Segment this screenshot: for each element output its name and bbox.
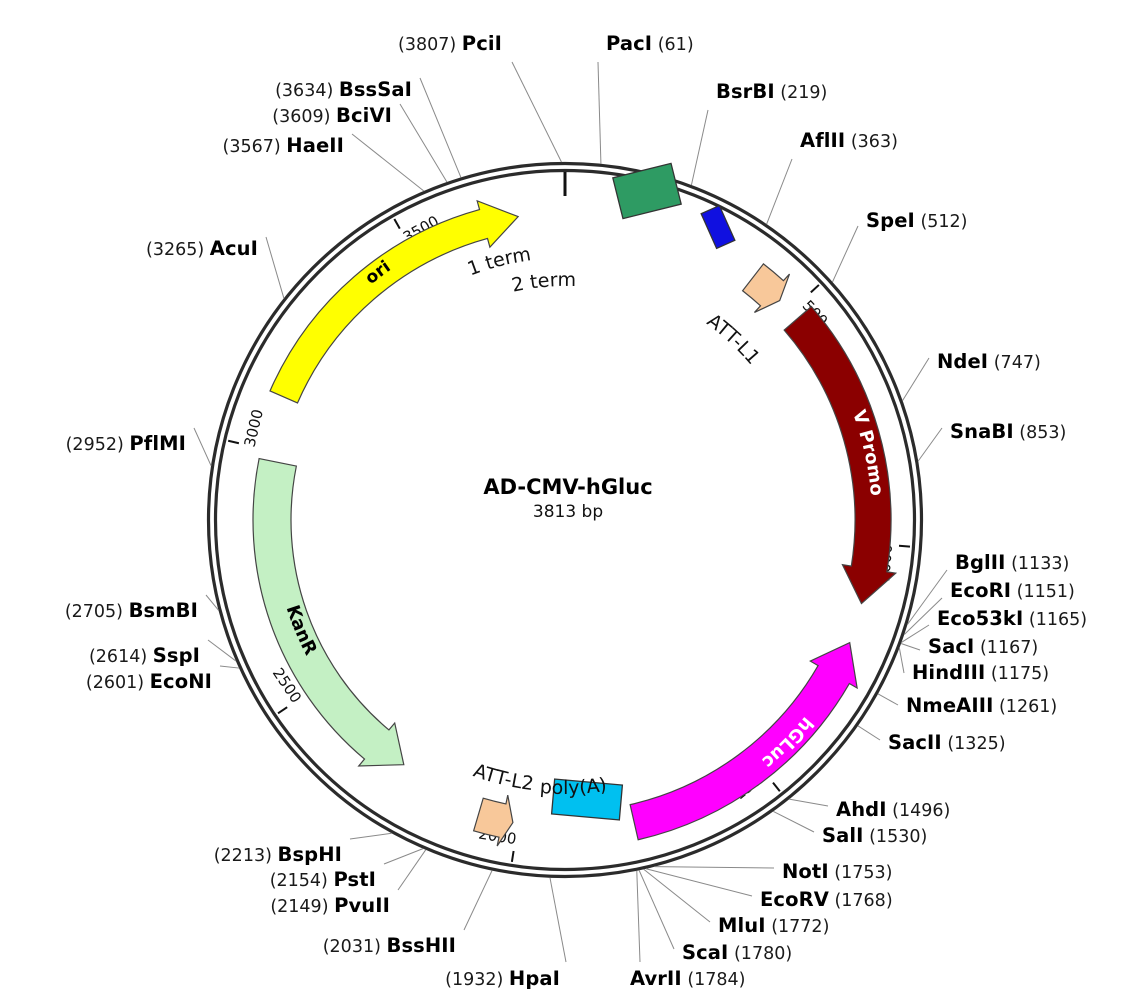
- enzyme-position: (219): [775, 83, 828, 103]
- feature-rect[interactable]: [613, 163, 681, 218]
- enzyme-name: SspI: [153, 644, 200, 667]
- ruler-tick-500: [811, 285, 819, 292]
- enzyme-name: BsmBI: [129, 599, 198, 622]
- enzyme-position: (853): [1014, 423, 1067, 443]
- leader-line-acui: [266, 237, 284, 298]
- leader-line-paci: [598, 62, 601, 164]
- enzyme-position: (2213): [214, 846, 278, 866]
- enzyme-label-bsssai[interactable]: (3634) BssSaI: [275, 80, 412, 101]
- leader-line-bsrbi: [691, 110, 708, 185]
- enzyme-name: PvuII: [334, 894, 390, 917]
- enzyme-label-eco53ki[interactable]: Eco53kI (1165): [937, 609, 1087, 630]
- enzyme-label-psti[interactable]: (2154) PstI: [270, 870, 376, 891]
- enzyme-name: HaeII: [286, 134, 344, 157]
- enzyme-position: (2952): [66, 435, 130, 455]
- enzyme-position: (1167): [974, 638, 1038, 658]
- enzyme-position: (61): [652, 35, 694, 55]
- enzyme-position: (2149): [270, 897, 334, 917]
- enzyme-label-nmeaiii[interactable]: NmeAIII (1261): [906, 696, 1057, 717]
- leader-line-nmeaiii: [878, 694, 898, 705]
- enzyme-position: (1784): [682, 970, 746, 990]
- leader-line-pflmi: [194, 428, 211, 466]
- enzyme-label-sali[interactable]: SalI (1530): [822, 826, 927, 847]
- ruler-tick-3500: [394, 219, 399, 229]
- enzyme-label-bsshii[interactable]: (2031) BssHII: [323, 936, 456, 957]
- feature-label-att-l2: ATT-L2: [471, 760, 535, 795]
- enzyme-label-spei[interactable]: SpeI (512): [866, 211, 968, 232]
- enzyme-name: SnaBI: [950, 420, 1014, 443]
- ruler-label: 3000: [241, 407, 267, 448]
- enzyme-position: (1165): [1023, 610, 1087, 630]
- enzyme-name: PflMI: [129, 432, 186, 455]
- enzyme-position: (2154): [270, 871, 334, 891]
- enzyme-position: (3609): [272, 107, 336, 127]
- enzyme-name: SalI: [822, 824, 864, 847]
- enzyme-name: MluI: [718, 914, 766, 937]
- feature-ATT-L1[interactable]: [743, 264, 790, 313]
- leader-line-hpai: [550, 878, 566, 962]
- enzyme-label-bsphi[interactable]: (2213) BspHI: [214, 845, 342, 866]
- enzyme-name: AvrII: [630, 967, 682, 990]
- ruler-tick-2500: [278, 707, 287, 713]
- enzyme-position: (2031): [323, 937, 387, 957]
- leader-line-ecorv: [646, 869, 752, 896]
- enzyme-name: PstI: [333, 868, 376, 891]
- enzyme-label-acui[interactable]: (3265) AcuI: [146, 239, 258, 260]
- ruler-tick-1000: [899, 546, 910, 547]
- enzyme-position: (2614): [89, 647, 153, 667]
- enzyme-label-scai[interactable]: ScaI (1780): [682, 943, 792, 964]
- enzyme-name: Eco53kI: [937, 607, 1023, 630]
- ruler-tick-3000: [228, 441, 239, 444]
- enzyme-name: NotI: [782, 860, 829, 883]
- leader-line-haeii: [352, 134, 424, 191]
- enzyme-name: BssHII: [386, 934, 456, 957]
- enzyme-name: PacI: [606, 32, 652, 55]
- leader-line-econi: [220, 666, 239, 668]
- feature-hGLuc[interactable]: [630, 643, 857, 840]
- leader-line-saci: [901, 644, 920, 650]
- enzyme-label-ndei[interactable]: NdeI (747): [937, 352, 1041, 373]
- ruler-tick-label-3000: 3000: [241, 407, 267, 448]
- enzyme-position: (1133): [1006, 554, 1070, 574]
- feature-ori[interactable]: [270, 201, 518, 403]
- enzyme-name: ScaI: [682, 941, 728, 964]
- leader-line-ndei: [903, 358, 929, 401]
- enzyme-name: AcuI: [210, 237, 258, 260]
- enzyme-name: AhdI: [836, 798, 887, 821]
- enzyme-position: (1932): [445, 970, 509, 990]
- leader-line-pcii: [512, 62, 561, 162]
- enzyme-position: (3634): [275, 81, 339, 101]
- enzyme-position: (1530): [864, 827, 928, 847]
- enzyme-label-pvuii[interactable]: (2149) PvuII: [270, 896, 390, 917]
- leader-line-snabi: [918, 428, 942, 461]
- enzyme-name: SacI: [928, 635, 974, 658]
- ruler-tick-2000: [512, 851, 514, 862]
- enzyme-label-snabi[interactable]: SnaBI (853): [950, 422, 1066, 443]
- leader-line-bsshii: [464, 870, 492, 930]
- enzyme-position: (512): [915, 212, 968, 232]
- enzyme-position: (1772): [766, 917, 830, 937]
- enzyme-label-pflmi[interactable]: (2952) PflMI: [66, 434, 186, 455]
- enzyme-position: (1753): [829, 863, 893, 883]
- enzyme-label-hpai[interactable]: (1932) HpaI: [445, 969, 560, 990]
- leader-line-scai: [639, 870, 674, 949]
- enzyme-label-ecorv[interactable]: EcoRV (1768): [760, 890, 893, 911]
- enzyme-label-econi[interactable]: (2601) EcoNI: [86, 672, 212, 693]
- enzyme-name: EcoRV: [760, 888, 829, 911]
- enzyme-position: (2601): [86, 673, 150, 693]
- enzyme-label-bsrbi[interactable]: BsrBI (219): [716, 82, 827, 103]
- enzyme-name: AflII: [800, 129, 845, 152]
- enzyme-name: NmeAIII: [906, 694, 993, 717]
- enzyme-label-noti[interactable]: NotI (1753): [782, 862, 892, 883]
- leader-line-hindiii: [899, 648, 904, 673]
- leader-line-sacii: [858, 726, 880, 740]
- leader-line-bcivi: [400, 104, 447, 182]
- enzyme-position: (3807): [398, 35, 462, 55]
- enzyme-label-ahdi[interactable]: AhdI (1496): [836, 800, 950, 821]
- enzyme-position: (2705): [65, 602, 129, 622]
- enzyme-label-bglii[interactable]: BglII (1133): [955, 553, 1069, 574]
- enzyme-position: (1768): [829, 891, 893, 911]
- leader-line-spei: [832, 226, 858, 282]
- enzyme-label-avrii[interactable]: AvrII (1784): [630, 969, 746, 990]
- enzyme-label-sspi[interactable]: (2614) SspI: [89, 646, 200, 667]
- feature-label-att-l1: ATT-L1: [703, 310, 764, 369]
- leader-line-aflii: [767, 159, 792, 224]
- enzyme-name: BssSaI: [339, 78, 412, 101]
- enzyme-position: (747): [988, 353, 1041, 373]
- enzyme-position: (3265): [146, 240, 210, 260]
- leader-line-avrii: [637, 871, 640, 962]
- leader-line-bsphi: [350, 833, 392, 839]
- enzyme-name: EcoNI: [150, 670, 212, 693]
- enzyme-label-paci[interactable]: PacI (61): [606, 34, 694, 55]
- enzyme-label-pcii[interactable]: (3807) PciI: [398, 34, 502, 55]
- enzyme-label-hindiii[interactable]: HindIII (1175): [912, 663, 1049, 684]
- enzyme-label-haeii[interactable]: (3567) HaeII: [223, 136, 344, 157]
- enzyme-label-bsmbi[interactable]: (2705) BsmBI: [65, 601, 198, 622]
- enzyme-name: SpeI: [866, 209, 915, 232]
- enzyme-name: SacII: [888, 731, 942, 754]
- enzyme-name: BglII: [955, 551, 1006, 574]
- plasmid-size: 3813 bp: [0, 502, 1136, 522]
- enzyme-position: (363): [845, 132, 898, 152]
- enzyme-label-saci[interactable]: SacI (1167): [928, 637, 1038, 658]
- enzyme-name: PciI: [462, 32, 502, 55]
- enzyme-name: BsrBI: [716, 80, 775, 103]
- enzyme-label-bcivi[interactable]: (3609) BciVI: [272, 106, 392, 127]
- enzyme-name: HindIII: [912, 661, 985, 684]
- enzyme-position: (1780): [728, 944, 792, 964]
- enzyme-name: NdeI: [937, 350, 988, 373]
- plasmid-map: 500100015002000250030003500oriCMV Promot…: [0, 0, 1136, 993]
- enzyme-position: (1175): [985, 664, 1049, 684]
- plasmid-name: AD-CMV-hGluc: [0, 475, 1136, 499]
- leader-line-pvuii: [398, 850, 426, 890]
- enzyme-position: (1151): [1011, 582, 1075, 602]
- leader-line-sali: [773, 811, 814, 832]
- enzyme-label-sacii[interactable]: SacII (1325): [888, 733, 1006, 754]
- enzyme-position: (3567): [223, 137, 287, 157]
- enzyme-name: EcoRI: [950, 579, 1011, 602]
- enzyme-name: BspHI: [277, 843, 342, 866]
- enzyme-position: (1325): [942, 734, 1006, 754]
- leader-line-noti: [655, 867, 774, 868]
- enzyme-label-ecori[interactable]: EcoRI (1151): [950, 581, 1075, 602]
- leader-line-ahdi: [789, 799, 828, 806]
- enzyme-name: HpaI: [509, 967, 560, 990]
- ruler-tick-1500: [773, 783, 780, 792]
- enzyme-name: BciVI: [336, 104, 392, 127]
- enzyme-position: (1496): [887, 801, 951, 821]
- feature-box-rrnB T1 terminator[interactable]: [613, 163, 681, 218]
- leader-line-bsssai: [420, 78, 461, 177]
- enzyme-position: (1261): [993, 697, 1057, 717]
- enzyme-label-aflii[interactable]: AflII (363): [800, 131, 898, 152]
- enzyme-label-mlui[interactable]: MluI (1772): [718, 916, 829, 937]
